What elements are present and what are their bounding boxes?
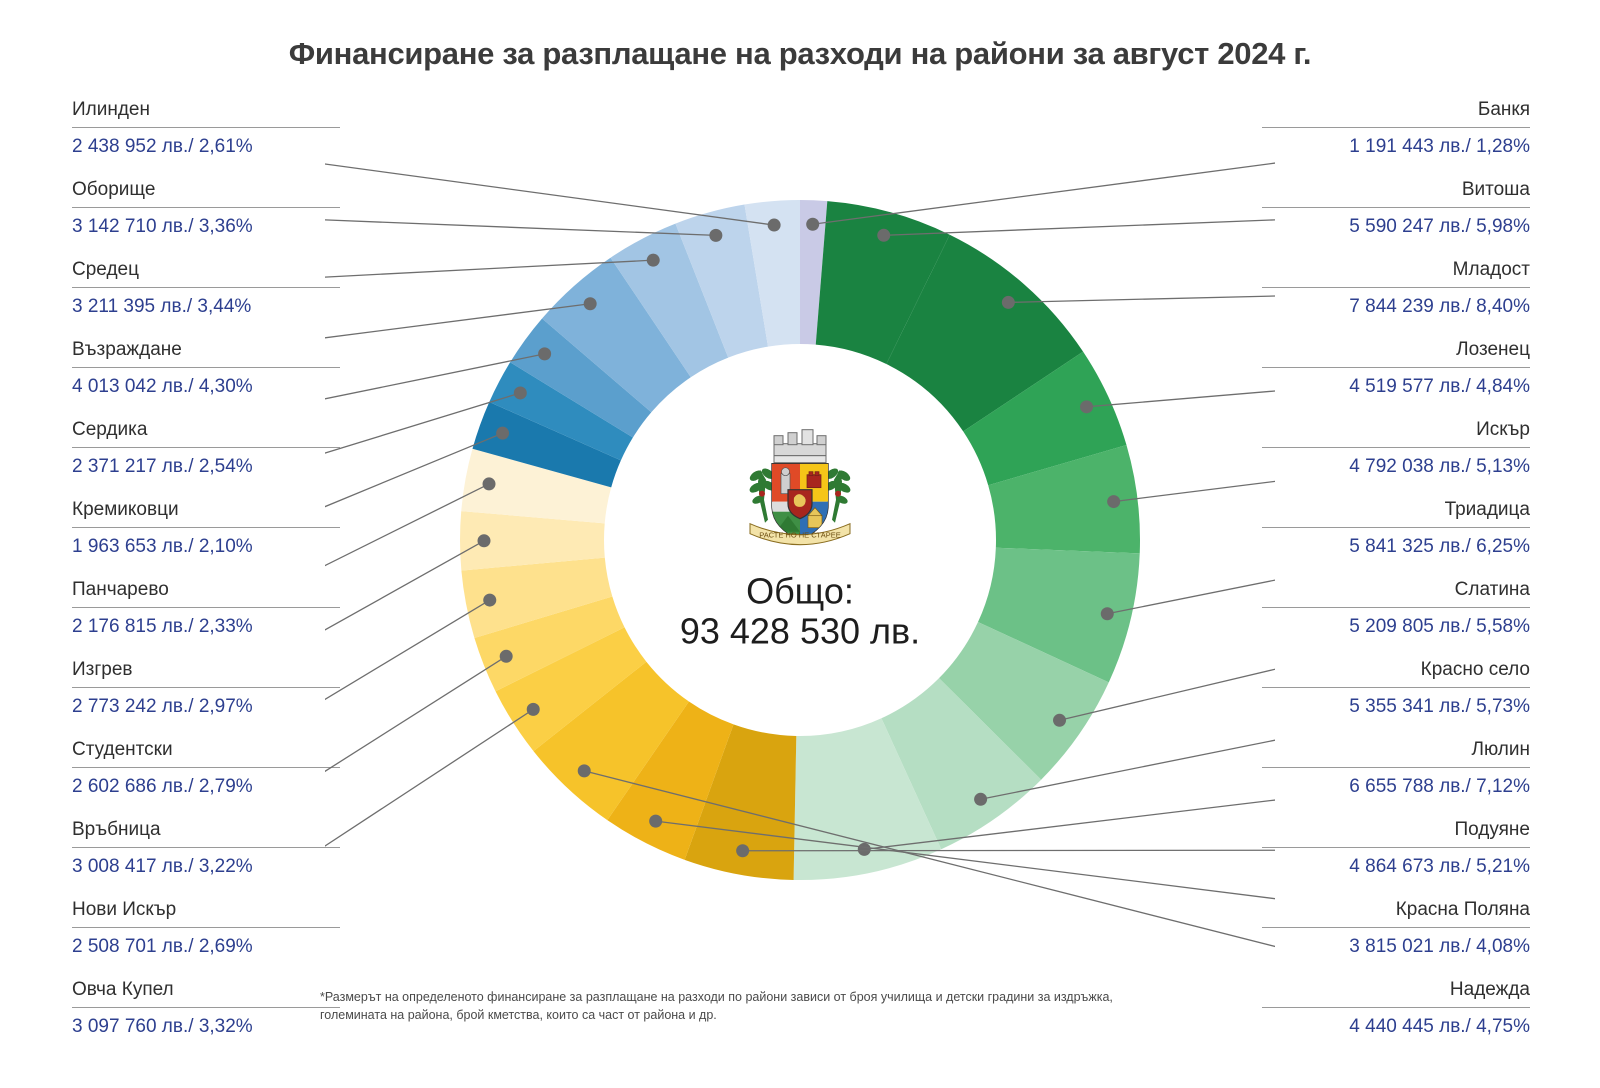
legend-item-name: Кремиковци [72, 500, 340, 527]
legend-item-name: Красна Поляна [1262, 900, 1530, 927]
legend-item-name: Триадица [1262, 500, 1530, 527]
legend-item-name: Оборище [72, 180, 340, 207]
legend-item-name: Слатина [1262, 580, 1530, 607]
legend-item-value: 2 438 952 лв./ 2,61% [72, 127, 340, 157]
legend-item-value: 1 191 443 лв./ 1,28% [1262, 127, 1530, 157]
legend-item-value: 3 211 395 лв./ 3,44% [72, 287, 340, 317]
leader-dot [709, 229, 722, 242]
legend-item[interactable]: Сердика2 371 217 лв./ 2,54% [72, 420, 340, 500]
leader-dot [584, 297, 597, 310]
legend-item-value: 5 841 325 лв./ 6,25% [1262, 527, 1530, 557]
legend-left: Илинден2 438 952 лв./ 2,61%Оборище3 142 … [72, 100, 340, 1060]
legend-item-name: Възраждане [72, 340, 340, 367]
legend-item-value: 2 508 701 лв./ 2,69% [72, 927, 340, 957]
legend-item-value: 3 008 417 лв./ 3,22% [72, 847, 340, 877]
legend-item-value: 2 176 815 лв./ 2,33% [72, 607, 340, 637]
leader-dot [768, 219, 781, 232]
legend-item-value: 3 142 710 лв./ 3,36% [72, 207, 340, 237]
legend-item-value: 6 655 788 лв./ 7,12% [1262, 767, 1530, 797]
legend-item-value: 4 519 577 лв./ 4,84% [1262, 367, 1530, 397]
footnote: *Размерът на определеното финансиране за… [320, 988, 1180, 1024]
legend-item[interactable]: Младост7 844 239 лв./ 8,40% [1262, 260, 1530, 340]
legend-item[interactable]: Възраждане4 013 042 лв./ 4,30% [72, 340, 340, 420]
leader-line [1087, 370, 1275, 407]
leader-dot [483, 477, 496, 490]
legend-item[interactable]: Нови Искър2 508 701 лв./ 2,69% [72, 900, 340, 980]
legend-item-name: Овча Купел [72, 980, 340, 1007]
leader-dot [877, 229, 890, 242]
legend-item[interactable]: Подуяне4 864 673 лв./ 5,21% [1262, 820, 1530, 900]
leader-dot [806, 218, 819, 231]
leader-line [1114, 450, 1275, 502]
leader-dot [578, 764, 591, 777]
donut-svg [325, 100, 1275, 980]
legend-item[interactable]: Триадица5 841 325 лв./ 6,25% [1262, 500, 1530, 580]
legend-item-value: 3 815 021 лв./ 4,08% [1262, 927, 1530, 957]
legend-item-name: Средец [72, 260, 340, 287]
leader-dot [1107, 495, 1120, 508]
leader-dot [858, 843, 871, 856]
leader-dot [1101, 607, 1114, 620]
legend-item-value: 4 440 445 лв./ 4,75% [1262, 1007, 1530, 1037]
legend-item-value: 7 844 239 лв./ 8,40% [1262, 287, 1530, 317]
leader-dot [527, 703, 540, 716]
leader-line [325, 656, 506, 930]
legend-item[interactable]: Илинден2 438 952 лв./ 2,61% [72, 100, 340, 180]
legend-item-name: Изгрев [72, 660, 340, 687]
leader-line [325, 600, 490, 850]
leader-dot [538, 347, 551, 360]
leader-line [325, 709, 533, 980]
legend-item-name: Младост [1262, 260, 1530, 287]
legend-item-name: Надежда [1262, 980, 1530, 1007]
leader-dot [514, 386, 527, 399]
legend-item-value: 5 590 247 лв./ 5,98% [1262, 207, 1530, 237]
legend-item-name: Красно село [1262, 660, 1530, 687]
legend-item-name: Витоша [1262, 180, 1530, 207]
legend-item-value: 4 013 042 лв./ 4,30% [72, 367, 340, 397]
legend-item-name: Люлин [1262, 740, 1530, 767]
legend-right: Банкя1 191 443 лв./ 1,28%Витоша5 590 247… [1262, 100, 1530, 1060]
page-title: Финансиране за разплащане на разходи на … [0, 36, 1600, 72]
leader-line [325, 130, 774, 225]
legend-item-name: Връбница [72, 820, 340, 847]
legend-item[interactable]: Искър4 792 038 лв./ 5,13% [1262, 420, 1530, 500]
legend-item-value: 1 963 653 лв./ 2,10% [72, 527, 340, 557]
legend-item-name: Панчарево [72, 580, 340, 607]
legend-item-name: Студентски [72, 740, 340, 767]
leader-dot [483, 594, 496, 607]
legend-item-value: 2 773 242 лв./ 2,97% [72, 687, 340, 717]
legend-item-value: 2 602 686 лв./ 2,79% [72, 767, 340, 797]
legend-item[interactable]: Красна Поляна3 815 021 лв./ 4,08% [1262, 900, 1530, 980]
leader-line [1008, 290, 1275, 302]
legend-item[interactable]: Надежда4 440 445 лв./ 4,75% [1262, 980, 1530, 1060]
legend-item-name: Нови Искър [72, 900, 340, 927]
legend-item-name: Искър [1262, 420, 1530, 447]
legend-item[interactable]: Лозенец4 519 577 лв./ 4,84% [1262, 340, 1530, 420]
legend-item[interactable]: Кремиковци1 963 653 лв./ 2,10% [72, 500, 340, 580]
legend-item[interactable]: Панчарево2 176 815 лв./ 2,33% [72, 580, 340, 660]
legend-item[interactable]: Студентски2 602 686 лв./ 2,79% [72, 740, 340, 820]
legend-item-value: 2 371 217 лв./ 2,54% [72, 447, 340, 477]
legend-item[interactable]: Оборище3 142 710 лв./ 3,36% [72, 180, 340, 260]
legend-item[interactable]: Слатина5 209 805 лв./ 5,58% [1262, 580, 1530, 660]
legend-item[interactable]: Връбница3 008 417 лв./ 3,22% [72, 820, 340, 900]
legend-item[interactable]: Люлин6 655 788 лв./ 7,12% [1262, 740, 1530, 820]
leader-dot [478, 534, 491, 547]
leader-dot [647, 254, 660, 267]
legend-item-name: Илинден [72, 100, 340, 127]
leader-dot [500, 650, 513, 663]
legend-item-name: Банкя [1262, 100, 1530, 127]
legend-item[interactable]: Средец3 211 395 лв./ 3,44% [72, 260, 340, 340]
legend-item[interactable]: Витоша5 590 247 лв./ 5,98% [1262, 180, 1530, 260]
legend-item-value: 4 792 038 лв./ 5,13% [1262, 447, 1530, 477]
legend-item[interactable]: Овча Купел3 097 760 лв./ 3,32% [72, 980, 340, 1060]
leader-line [743, 850, 1275, 851]
leader-dot [736, 844, 749, 857]
legend-item-value: 5 355 341 лв./ 5,73% [1262, 687, 1530, 717]
legend-item-name: Подуяне [1262, 820, 1530, 847]
leader-dot [496, 427, 509, 440]
legend-item[interactable]: Банкя1 191 443 лв./ 1,28% [1262, 100, 1530, 180]
legend-item-value: 4 864 673 лв./ 5,21% [1262, 847, 1530, 877]
leader-dot [1002, 296, 1015, 309]
leader-dot [649, 815, 662, 828]
leader-dot [974, 793, 987, 806]
legend-item-name: Лозенец [1262, 340, 1530, 367]
legend-item-name: Сердика [72, 420, 340, 447]
legend-item-value: 5 209 805 лв./ 5,58% [1262, 607, 1530, 637]
leader-dot [1053, 714, 1066, 727]
leader-line [325, 541, 484, 770]
leader-dot [1080, 400, 1093, 413]
legend-item[interactable]: Изгрев2 773 242 лв./ 2,97% [72, 660, 340, 740]
donut-chart: РАСТЕ НО НЕ СТАРЕЕ Общо: 93 428 530 лв. [325, 100, 1275, 980]
legend-item-value: 3 097 760 лв./ 3,32% [72, 1007, 340, 1037]
legend-item[interactable]: Красно село5 355 341 лв./ 5,73% [1262, 660, 1530, 740]
